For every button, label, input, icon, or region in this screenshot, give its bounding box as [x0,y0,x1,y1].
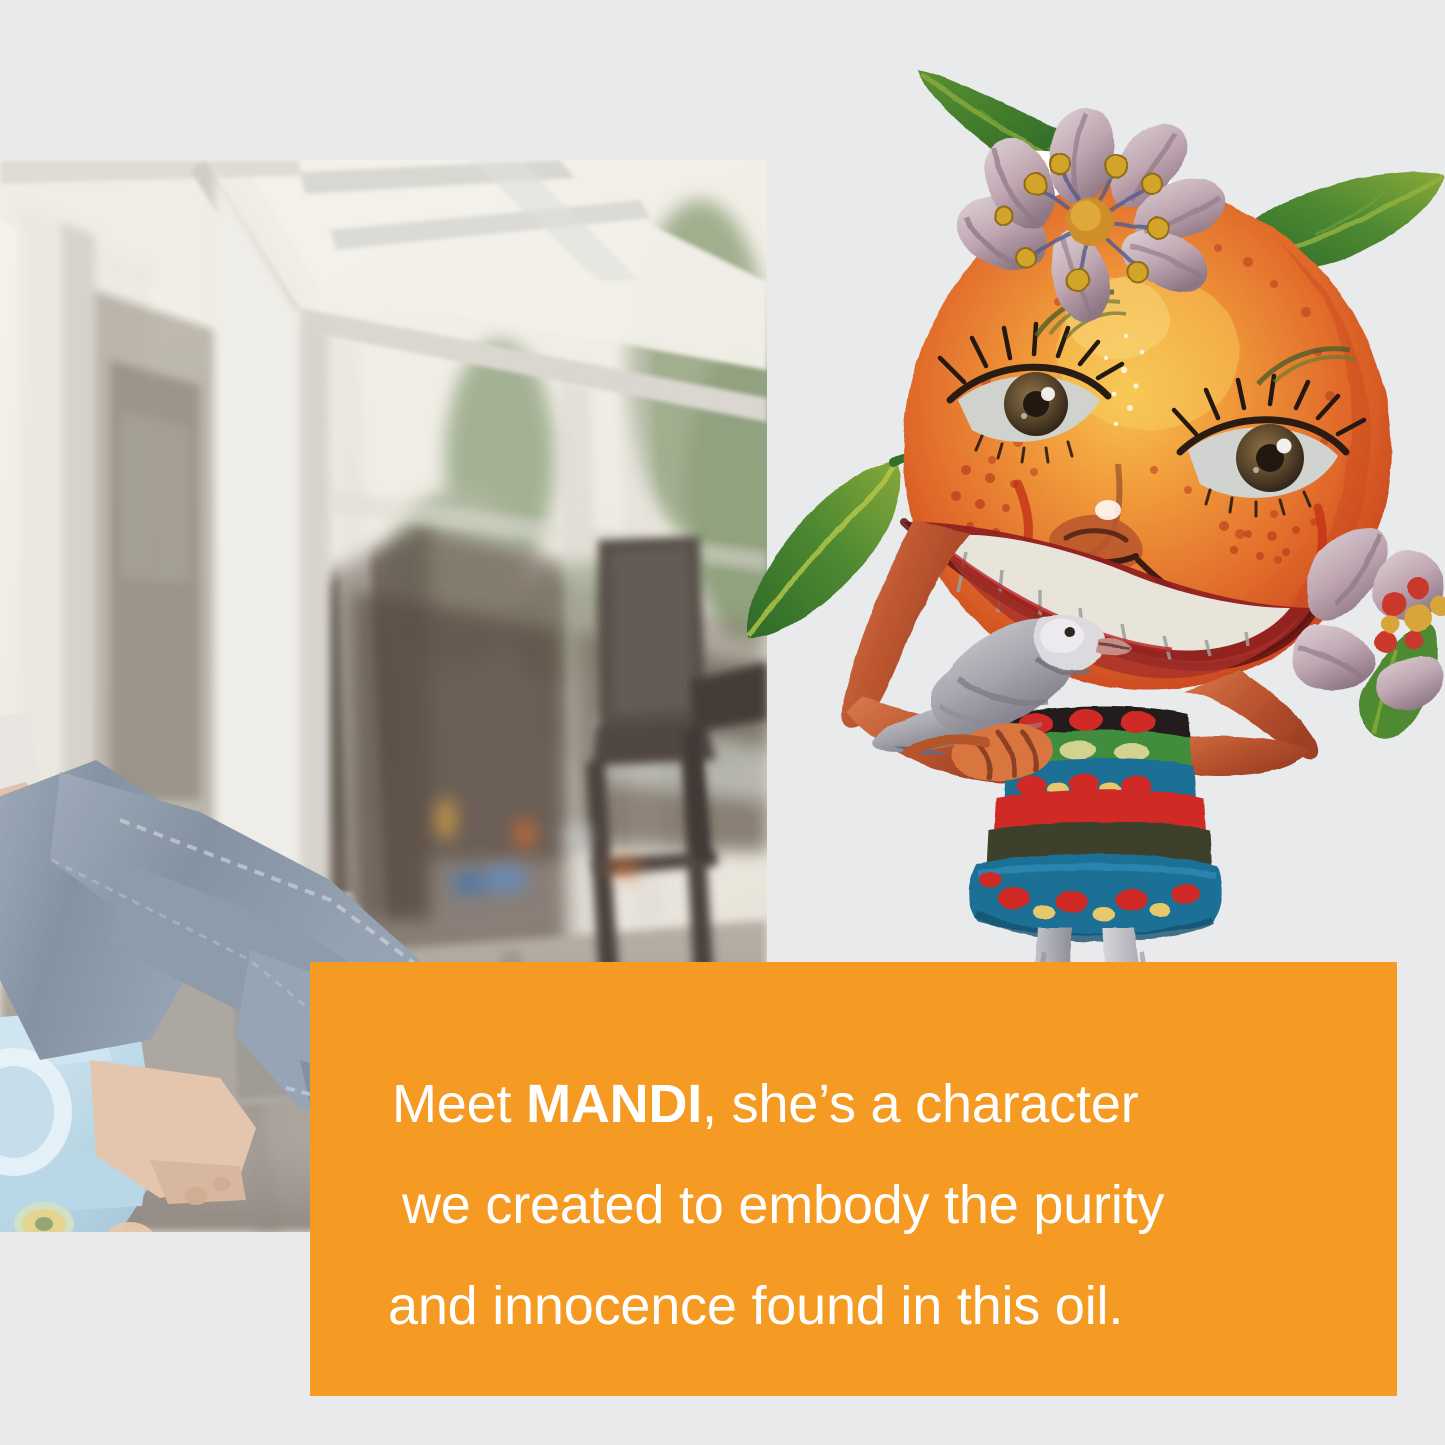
mandi-character-art [718,52,1445,1042]
caption-line-1-post: , she’s a character [702,1074,1138,1134]
caption-line-1: Meet MANDI, she’s a character [388,1054,1325,1155]
caption-line-3: and innocence found in this oil. [388,1256,1325,1357]
caption-brand-name: MANDI [526,1074,702,1134]
caption-panel: Meet MANDI, she’s a character we created… [310,962,1397,1396]
mandi-illustration [718,52,1445,1042]
marketing-card: Meet MANDI, she’s a character we created… [0,0,1445,1445]
caption-line-1-pre: Meet [392,1074,526,1134]
caption-line-2: we created to embody the purity [388,1155,1325,1256]
